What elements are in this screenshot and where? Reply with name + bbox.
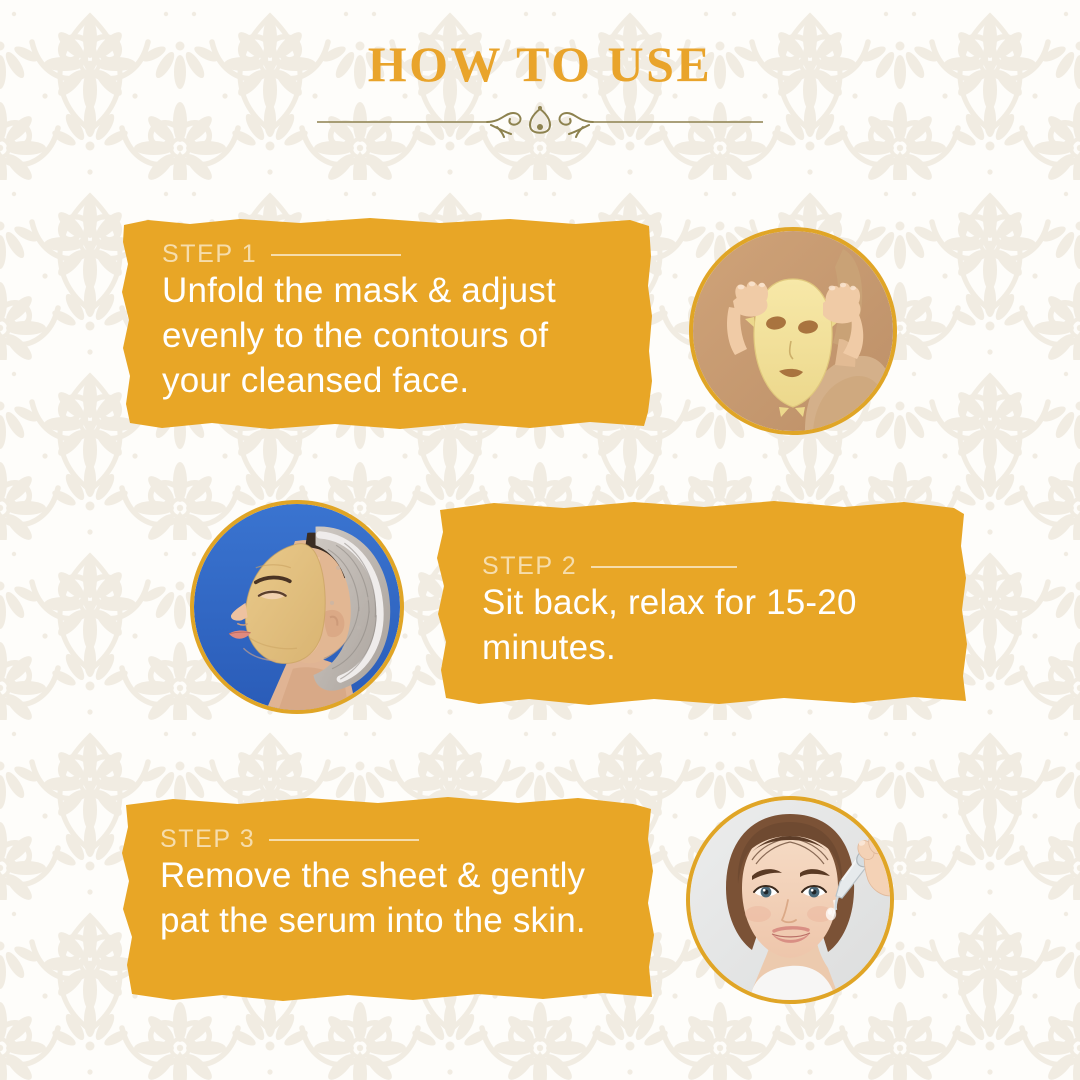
step-3-label-row: STEP 3 — [160, 825, 626, 854]
step-1-label-row: STEP 1 — [162, 240, 623, 269]
ornamental-flourish-divider-icon — [315, 105, 765, 139]
step-2-label-row: STEP 2 — [482, 552, 938, 581]
page-title: HOW TO USE — [0, 0, 1080, 91]
step-1-label: STEP 1 — [162, 240, 257, 269]
step-1-rule — [271, 254, 401, 256]
step-2-rule — [591, 566, 737, 568]
photo-applying-serum-dropper — [686, 796, 894, 1004]
step-3-rule — [269, 839, 419, 841]
step-2-label: STEP 2 — [482, 552, 577, 581]
step-1-text: Unfold the mask & adjust evenly to the c… — [162, 269, 623, 403]
step-3-label: STEP 3 — [160, 825, 255, 854]
header: HOW TO USE — [0, 0, 1080, 139]
photo-holding-sheet-mask — [689, 227, 897, 435]
step-2-text: Sit back, relax for 15-20 minutes. — [482, 581, 938, 671]
photo-wearing-sheet-mask — [190, 500, 404, 714]
step-card-1: STEP 1 Unfold the mask & adjust evenly t… — [120, 216, 653, 432]
step-card-2: STEP 2 Sit back, relax for 15-20 minutes… — [434, 498, 968, 714]
step-card-3: STEP 3 Remove the sheet & gently pat the… — [118, 795, 656, 1012]
how-to-use-poster: HOW TO USE — [0, 0, 1080, 1080]
step-3-text: Remove the sheet & gently pat the serum … — [160, 854, 626, 944]
